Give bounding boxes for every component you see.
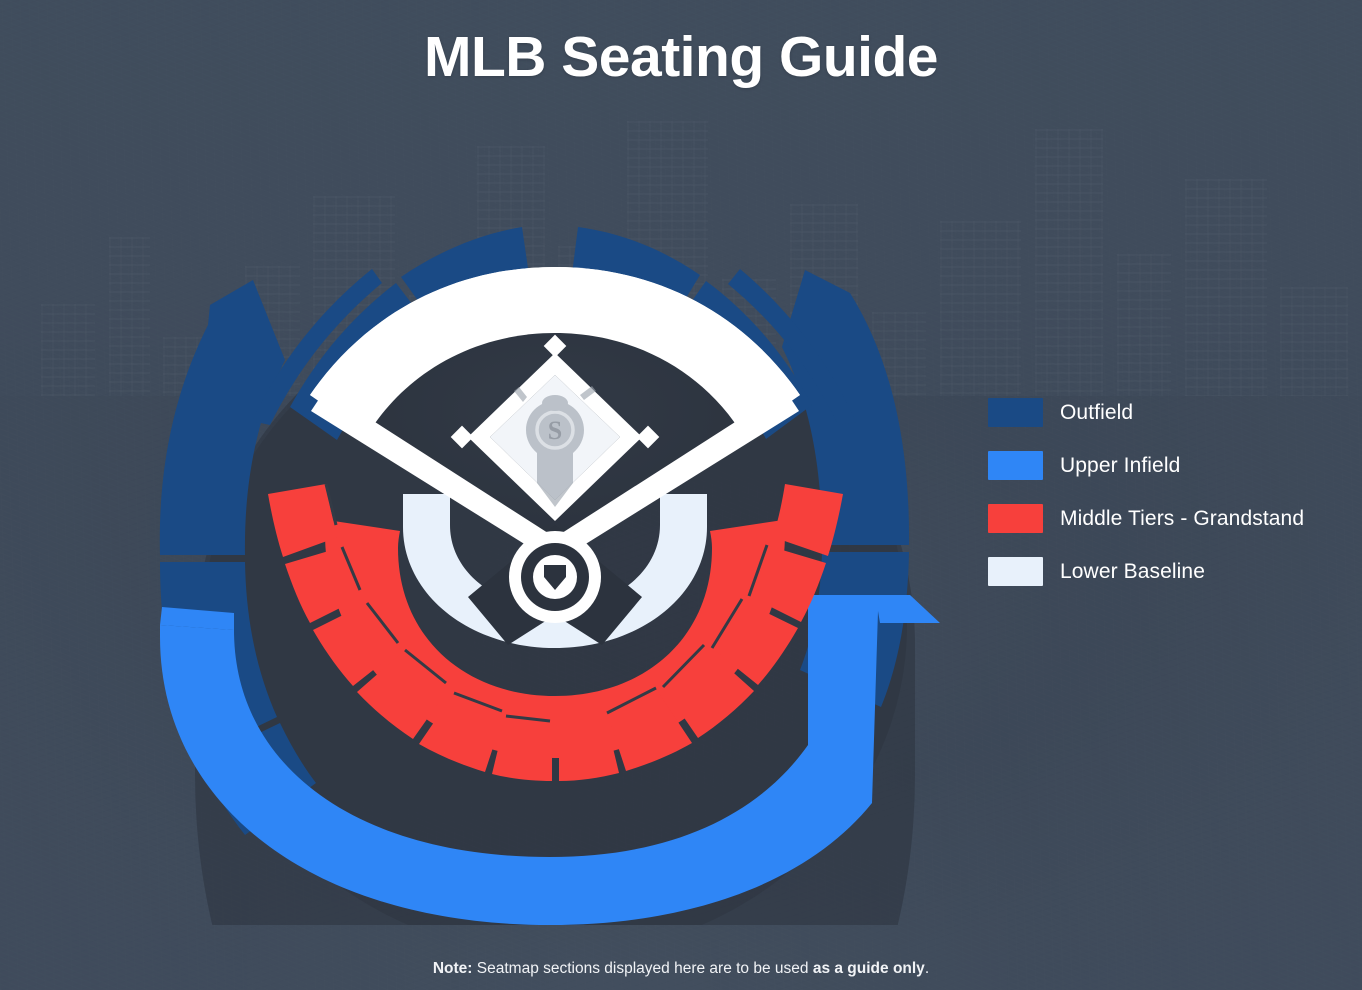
legend-label-outfield: Outfield [1060,401,1133,425]
seatmap-diagram: S [150,225,960,925]
color-swatch-icon [988,504,1043,533]
legend-item-lower-baseline[interactable]: Lower Baseline [988,545,1328,598]
footer-note: Note: Seatmap sections displayed here ar… [0,960,1362,978]
color-swatch-icon [988,451,1043,480]
legend-item-upper-infield[interactable]: Upper Infield [988,439,1328,492]
legend-item-outfield[interactable]: Outfield [988,386,1328,439]
footer-note-end: . [925,960,929,977]
color-swatch-icon [988,557,1043,586]
logo-letter: S [548,416,562,445]
footer-note-label: Note: [433,960,473,977]
color-swatch-icon [988,398,1043,427]
legend: Outfield Upper Infield Middle Tiers - Gr… [988,386,1328,598]
legend-label-lower-baseline: Lower Baseline [1060,560,1205,584]
legend-item-middle-tiers-grandstand[interactable]: Middle Tiers - Grandstand [988,492,1328,545]
legend-label-middle-tiers-grandstand: Middle Tiers - Grandstand [1060,507,1304,531]
footer-note-emphasis: as a guide only [813,960,925,977]
seatmap-svg: S [150,225,960,925]
footer-note-text: Seatmap sections displayed here are to b… [472,960,812,977]
legend-label-upper-infield: Upper Infield [1060,454,1180,478]
page-title: MLB Seating Guide [0,0,1362,90]
